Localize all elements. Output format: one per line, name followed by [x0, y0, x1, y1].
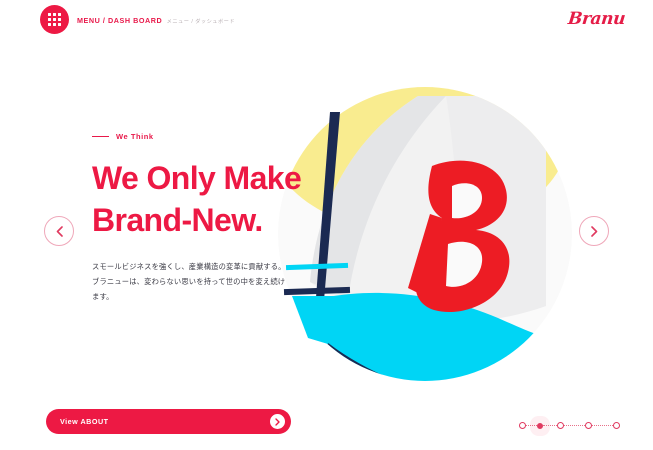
logo-letter-b — [408, 161, 509, 312]
hero-copy: We Think We Only Make Brand-New. スモールビジネ… — [92, 132, 342, 304]
pager-separator — [526, 425, 537, 426]
brand-logo[interactable]: Branu — [567, 9, 626, 29]
pager-separator — [564, 425, 585, 426]
pager-separator — [592, 425, 613, 426]
pager-separator — [543, 425, 557, 426]
pager-dot-3[interactable] — [557, 422, 564, 429]
carousel-next-button[interactable] — [579, 216, 609, 246]
page-title: We Only Make Brand-New. — [92, 157, 342, 241]
chevron-right-icon — [591, 226, 598, 237]
eyebrow-text: We Think — [116, 132, 154, 141]
pager-dot-5[interactable] — [613, 422, 620, 429]
eyebrow-rule-icon — [92, 136, 109, 137]
view-about-label: View ABOUT — [60, 417, 270, 426]
menu-subtitle: メニュー / ダッシュボード — [167, 19, 235, 25]
menu-dashboard-button[interactable]: MENU / DASH BOARD メニュー / ダッシュボード — [40, 5, 235, 34]
chevron-right-icon — [270, 414, 285, 429]
chevron-left-icon — [56, 226, 63, 237]
eyebrow: We Think — [92, 132, 342, 141]
carousel-prev-button[interactable] — [44, 216, 74, 246]
hero-slide-page: MENU / DASH BOARD メニュー / ダッシュボード Branu — [0, 0, 653, 450]
grid-icon[interactable] — [40, 5, 69, 34]
hero-body-text: スモールビジネスを強くし、産業構造の変革に貢献する。ブラニューは、変わらない思い… — [92, 260, 292, 304]
menu-label-group: MENU / DASH BOARD メニュー / ダッシュボード — [77, 11, 235, 28]
carousel-pagination — [519, 422, 620, 429]
pager-dot-1[interactable] — [519, 422, 526, 429]
headline-line-2: Brand-New. — [92, 199, 342, 241]
pager-dot-4[interactable] — [585, 422, 592, 429]
view-about-button[interactable]: View ABOUT — [46, 409, 291, 434]
site-header: MENU / DASH BOARD メニュー / ダッシュボード Branu — [0, 0, 653, 42]
menu-title: MENU / DASH BOARD — [77, 16, 162, 25]
headline-line-1: We Only Make — [92, 157, 342, 199]
